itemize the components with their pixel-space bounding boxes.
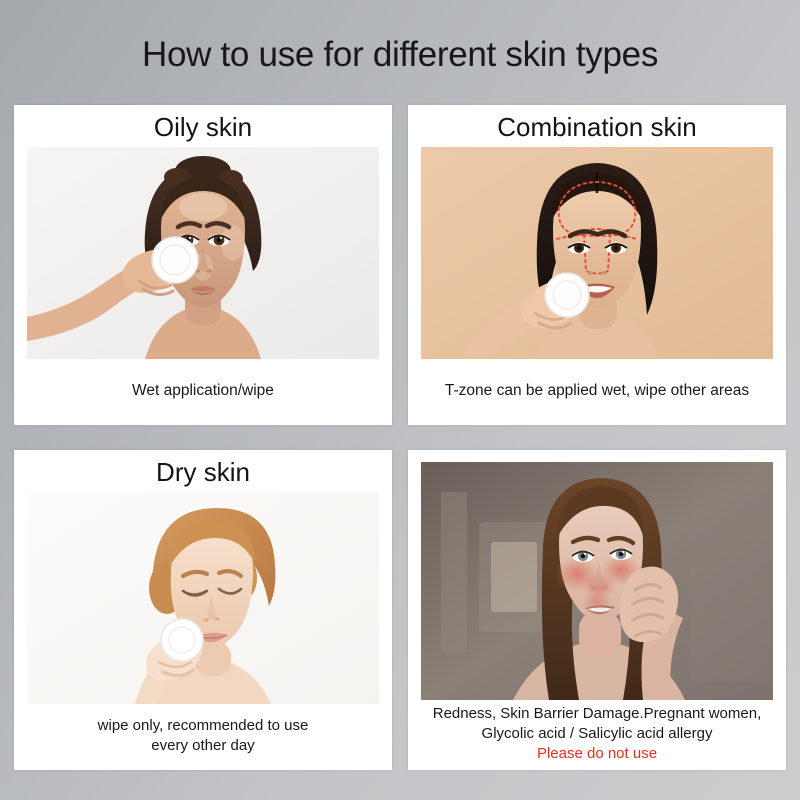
card-combination-skin[interactable]: Combination skin: [408, 105, 786, 425]
card-oily-skin[interactable]: Oily skin: [14, 105, 392, 425]
card-title-dry-skin: Dry skin: [156, 450, 250, 492]
warning-text: Please do not use: [537, 744, 657, 764]
caption-line: Glycolic acid / Salicylic acid allergy: [482, 724, 713, 744]
infographic-page: How to use for different skin types Oily…: [0, 0, 800, 800]
caption-do-not-use: Redness, Skin Barrier Damage.Pregnant wo…: [408, 700, 786, 770]
caption-combination-skin: T-zone can be applied wet, wipe other ar…: [408, 359, 786, 425]
woman-with-dotted-t-zone-outline-photo: [421, 147, 773, 359]
caption-line: every other day: [151, 736, 254, 756]
caption-line: Redness, Skin Barrier Damage.Pregnant wo…: [433, 704, 762, 724]
page-title: How to use for different skin types: [0, 34, 800, 75]
caption-line: T-zone can be applied wet, wipe other ar…: [445, 381, 749, 402]
caption-oily-skin: Wet application/wipe: [14, 359, 392, 425]
caption-dry-skin: wipe only, recommended to use every othe…: [14, 704, 392, 770]
card-do-not-use[interactable]: Redness, Skin Barrier Damage.Pregnant wo…: [408, 450, 786, 770]
woman-wiping-cheek-with-cotton-pad-photo: [27, 147, 379, 359]
card-title-oily-skin: Oily skin: [154, 105, 252, 147]
skin-type-card-grid: Oily skin: [14, 105, 786, 770]
caption-line: Wet application/wipe: [132, 381, 274, 402]
caption-line: wipe only, recommended to use: [98, 716, 309, 736]
woman-with-eyes-closed-applying-cotton-pad-photo: [27, 492, 379, 704]
card-dry-skin[interactable]: Dry skin: [14, 450, 392, 770]
card-title-combination-skin: Combination skin: [497, 105, 696, 147]
woman-with-red-irritated-cheek-photo: [421, 462, 773, 700]
